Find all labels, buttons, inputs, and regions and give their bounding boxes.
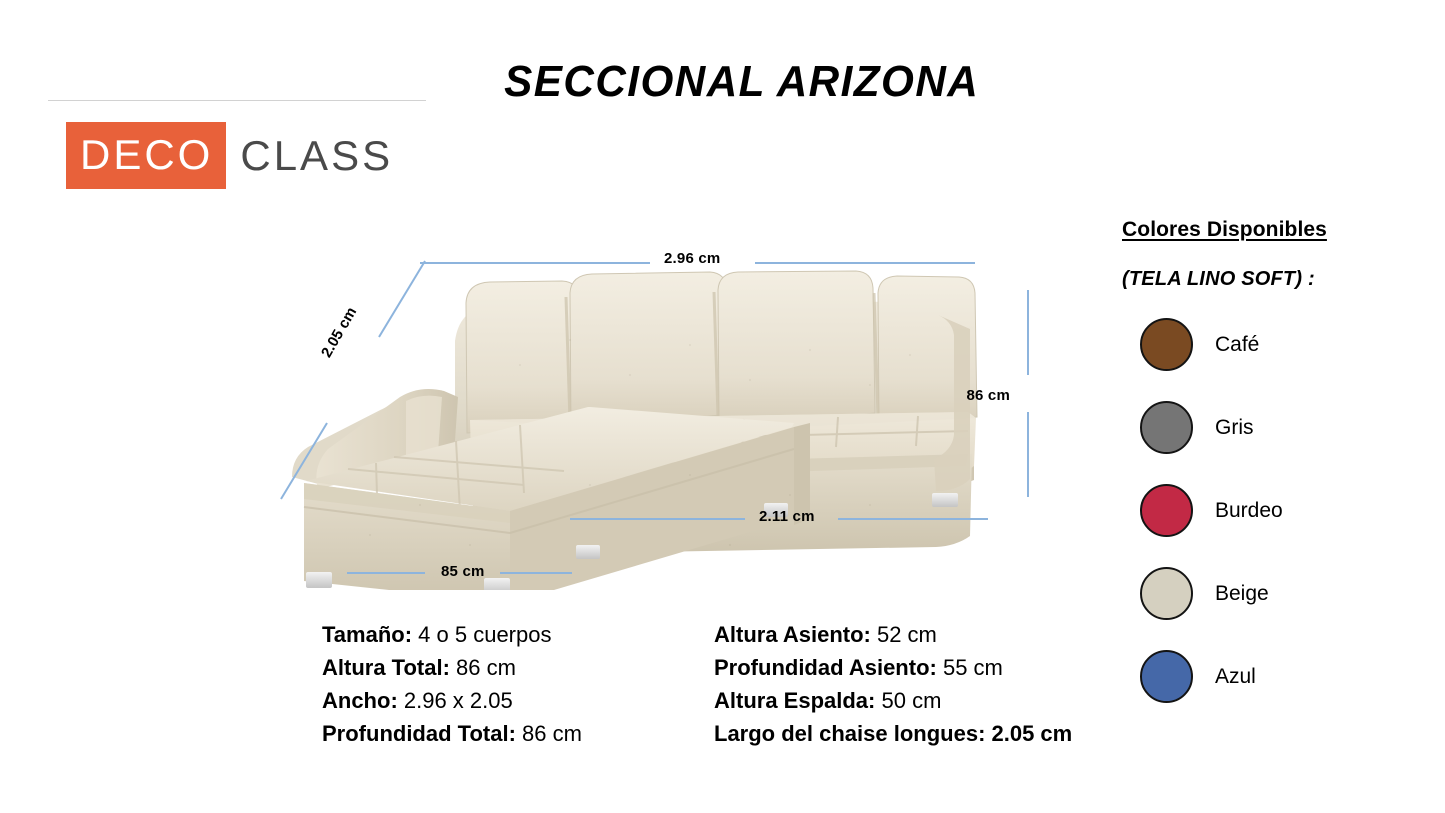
spec-value: 86 cm [450, 655, 516, 680]
brand-logo-name: CLASS [226, 135, 393, 177]
spec-key: Profundidad Total: [322, 721, 516, 746]
brand-logo: DECO CLASS [66, 122, 393, 189]
dimension-line-front-right [838, 518, 988, 520]
spec-value: 2.96 x 2.05 [398, 688, 513, 713]
spec-value: 55 cm [937, 655, 1003, 680]
color-swatch-list: CaféGrisBurdeoBeigeAzul [1122, 303, 1422, 718]
brand-logo-mark: DECO [66, 122, 226, 189]
color-swatch-beige[interactable] [1140, 567, 1193, 620]
specifications: Tamaño: 4 o 5 cuerposAltura Total: 86 cm… [322, 618, 1134, 750]
spec-key: Tamaño: [322, 622, 412, 647]
color-swatch-label: Beige [1215, 582, 1269, 606]
spec-line: Profundidad Total: 86 cm [322, 717, 714, 750]
dimension-label-chaise-width: 85 cm [441, 563, 485, 580]
spec-key: Profundidad Asiento: [714, 655, 937, 680]
spec-key: Altura Espalda: [714, 688, 875, 713]
spec-value: 52 cm [871, 622, 937, 647]
color-swatch-gris[interactable] [1140, 401, 1193, 454]
specifications-column-right: Altura Asiento: 52 cmProfundidad Asiento… [714, 618, 1134, 750]
color-swatch-label: Burdeo [1215, 499, 1283, 523]
spec-line: Ancho: 2.96 x 2.05 [322, 684, 714, 717]
dimension-line-top-right [755, 262, 975, 264]
dimension-line-front-left [570, 518, 745, 520]
color-swatch-label: Gris [1215, 416, 1254, 440]
color-swatch-row[interactable]: Burdeo [1122, 469, 1422, 552]
dimension-line-diagonal [275, 255, 435, 505]
color-swatch-row[interactable]: Azul [1122, 635, 1422, 718]
spec-value: 2.05 cm [985, 721, 1072, 746]
color-swatch-row[interactable]: Café [1122, 303, 1422, 386]
fabric-type-label: (TELA LINO SOFT) : [1122, 268, 1422, 291]
available-colors-panel: Colores Disponibles (TELA LINO SOFT) : C… [1122, 218, 1422, 718]
dimension-line-chaise-right [500, 572, 572, 574]
brand-divider [48, 100, 426, 101]
dimension-line-right-bottom [1027, 412, 1029, 497]
spec-line: Altura Espalda: 50 cm [714, 684, 1134, 717]
color-swatch-label: Azul [1215, 665, 1256, 689]
dimension-line-chaise-left [347, 572, 425, 574]
spec-key: Altura Total: [322, 655, 450, 680]
specifications-column-left: Tamaño: 4 o 5 cuerposAltura Total: 86 cm… [322, 618, 714, 750]
dimension-line-top-left [420, 262, 650, 264]
spec-key: Ancho: [322, 688, 398, 713]
spec-line: Tamaño: 4 o 5 cuerpos [322, 618, 714, 651]
spec-key: Altura Asiento: [714, 622, 871, 647]
colors-heading: Colores Disponibles [1122, 218, 1422, 242]
color-swatch-label: Café [1215, 333, 1259, 357]
spec-line: Altura Total: 86 cm [322, 651, 714, 684]
dimension-label-height: 86 cm [966, 387, 1010, 404]
spec-line: Altura Asiento: 52 cm [714, 618, 1134, 651]
spec-line: Profundidad Asiento: 55 cm [714, 651, 1134, 684]
dimension-label-total-width: 2.96 cm [664, 250, 720, 267]
color-swatch-caf[interactable] [1140, 318, 1193, 371]
color-swatch-azul[interactable] [1140, 650, 1193, 703]
spec-value: 86 cm [516, 721, 582, 746]
spec-value: 4 o 5 cuerpos [412, 622, 551, 647]
color-swatch-row[interactable]: Gris [1122, 386, 1422, 469]
spec-line: Largo del chaise longues: 2.05 cm [714, 717, 1134, 750]
product-spec-sheet: SECCIONAL ARIZONA DECO CLASS [0, 0, 1445, 813]
spec-value: 50 cm [875, 688, 941, 713]
dimension-label-front-width: 2.11 cm [759, 508, 815, 525]
spec-key: Largo del chaise longues: [714, 721, 985, 746]
dimension-line-right-top [1027, 290, 1029, 375]
color-swatch-burdeo[interactable] [1140, 484, 1193, 537]
color-swatch-row[interactable]: Beige [1122, 552, 1422, 635]
